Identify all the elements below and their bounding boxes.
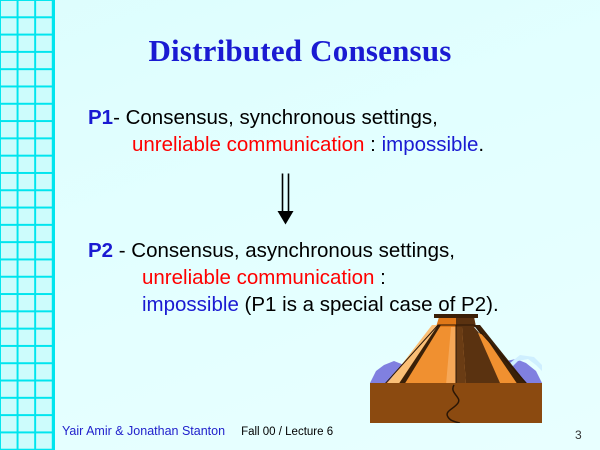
label-p2: P2 xyxy=(88,239,113,262)
label-p1: P1 xyxy=(88,106,113,129)
footer: Yair Amir & Jonathan StantonFall 00 / Le… xyxy=(62,424,333,438)
page-title: Distributed Consensus xyxy=(0,33,600,69)
page-number: 3 xyxy=(575,428,582,442)
statement-p1-verdict: impossible xyxy=(382,133,479,156)
statement-p2-verdict: impossible xyxy=(142,293,239,316)
statement-p2-line2: unreliable communication : xyxy=(88,264,499,291)
mayan-pyramid-illustration xyxy=(370,313,542,423)
statement-p1-condition: unreliable communication xyxy=(132,133,364,156)
footer-authors: Yair Amir & Jonathan Stanton xyxy=(62,424,225,438)
statement-p1-line1: P1- Consensus, synchronous settings, xyxy=(88,104,484,131)
pyramid-svg xyxy=(370,313,542,423)
statement-p2-line1: P2 - Consensus, asynchronous settings, xyxy=(88,237,499,264)
slide-canvas: Distributed Consensus P1- Consensus, syn… xyxy=(0,0,600,450)
statement-p1: P1- Consensus, synchronous settings, unr… xyxy=(88,104,484,158)
footer-course: Fall 00 / Lecture 6 xyxy=(225,426,333,438)
down-arrow-icon xyxy=(272,173,300,225)
statement-p2-line1-text: - Consensus, asynchronous settings, xyxy=(113,239,455,262)
statement-p2-colon: : xyxy=(374,266,385,289)
statement-p2: P2 - Consensus, asynchronous settings, u… xyxy=(88,237,499,318)
statement-p1-colon: : xyxy=(364,133,381,156)
statement-p1-line2: unreliable communication : impossible. xyxy=(88,131,484,158)
statement-p1-period: . xyxy=(478,133,484,156)
statement-p2-condition: unreliable communication xyxy=(142,266,374,289)
down-arrow-svg xyxy=(272,173,300,225)
ground-plane xyxy=(370,383,542,423)
statement-p1-line1-text: - Consensus, synchronous settings, xyxy=(113,106,438,129)
pyramid-body xyxy=(384,314,528,385)
